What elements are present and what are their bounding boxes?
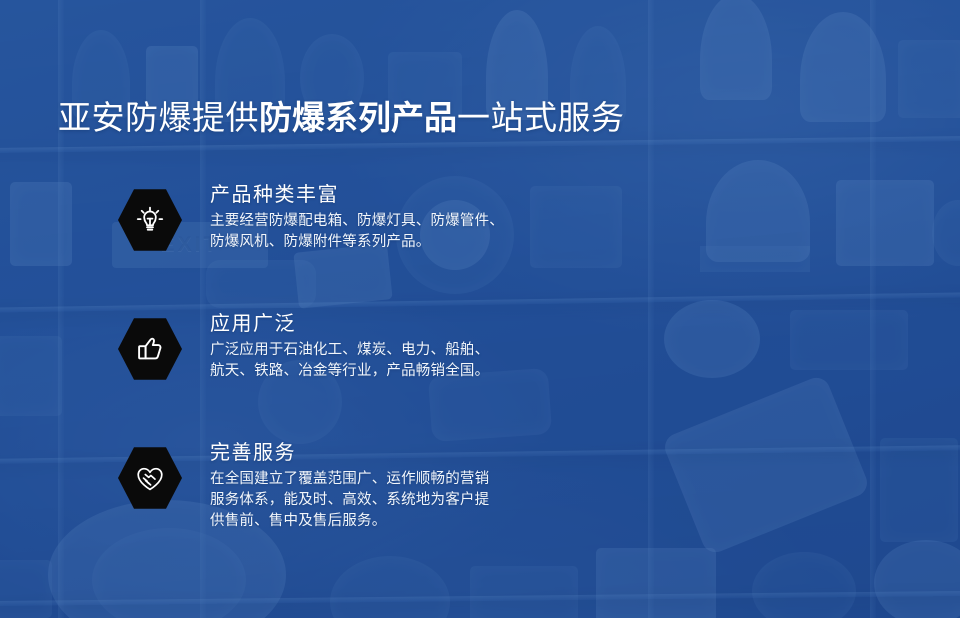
promo-banner: EXIT 亚安防爆提供防 — [0, 0, 960, 618]
thumbs-up-icon — [133, 332, 167, 366]
feature-text: 应用广泛 广泛应用于石油化工、煤炭、电力、船舶、 航天、铁路、冶金等行业，产品畅… — [210, 311, 618, 382]
hexagon-shape — [118, 317, 182, 381]
handshake-heart-icon — [132, 460, 168, 496]
feature-description-line: 在全国建立了覆盖范围广、运作顺畅的营销 — [210, 469, 618, 490]
feature-list: 产品种类丰富 主要经营防爆配电箱、防爆灯具、防爆管件、 防爆风机、防爆附件等系列… — [118, 182, 618, 532]
feature-item: 产品种类丰富 主要经营防爆配电箱、防爆灯具、防爆管件、 防爆风机、防爆附件等系列… — [118, 182, 618, 253]
banner-content: 亚安防爆提供防爆系列产品一站式服务 — [0, 0, 960, 618]
feature-description-line: 供售前、售中及售后服务。 — [210, 511, 618, 532]
feature-title: 完善服务 — [210, 440, 618, 466]
feature-description: 主要经营防爆配电箱、防爆灯具、防爆管件、 防爆风机、防爆附件等系列产品。 — [210, 211, 618, 253]
lightbulb-icon — [132, 202, 168, 238]
hexagon-shape — [118, 188, 182, 252]
page-title-tail: 一站式服务 — [457, 99, 625, 136]
feature-icon-badge — [118, 446, 182, 510]
feature-title: 产品种类丰富 — [210, 182, 618, 208]
page-title-lead: 亚安防爆提供 — [58, 99, 259, 136]
feature-item: 完善服务 在全国建立了覆盖范围广、运作顺畅的营销 服务体系，能及时、高效、系统地… — [118, 440, 618, 532]
feature-description-line: 广泛应用于石油化工、煤炭、电力、船舶、 — [210, 340, 618, 361]
feature-text: 完善服务 在全国建立了覆盖范围广、运作顺畅的营销 服务体系，能及时、高效、系统地… — [210, 440, 618, 532]
hexagon-shape — [118, 446, 182, 510]
feature-description: 广泛应用于石油化工、煤炭、电力、船舶、 航天、铁路、冶金等行业，产品畅销全国。 — [210, 340, 618, 382]
feature-description-line: 航天、铁路、冶金等行业，产品畅销全国。 — [210, 361, 618, 382]
feature-description-line: 防爆风机、防爆附件等系列产品。 — [210, 232, 618, 253]
feature-title: 应用广泛 — [210, 311, 618, 337]
feature-icon-badge — [118, 317, 182, 381]
feature-item: 应用广泛 广泛应用于石油化工、煤炭、电力、船舶、 航天、铁路、冶金等行业，产品畅… — [118, 311, 618, 382]
feature-description: 在全国建立了覆盖范围广、运作顺畅的营销 服务体系，能及时、高效、系统地为客户提 … — [210, 469, 618, 532]
feature-text: 产品种类丰富 主要经营防爆配电箱、防爆灯具、防爆管件、 防爆风机、防爆附件等系列… — [210, 182, 618, 253]
feature-icon-badge — [118, 188, 182, 252]
feature-description-line: 主要经营防爆配电箱、防爆灯具、防爆管件、 — [210, 211, 618, 232]
page-title-emphasis: 防爆系列产品 — [259, 99, 457, 136]
page-title: 亚安防爆提供防爆系列产品一站式服务 — [58, 97, 625, 139]
feature-description-line: 服务体系，能及时、高效、系统地为客户提 — [210, 490, 618, 511]
